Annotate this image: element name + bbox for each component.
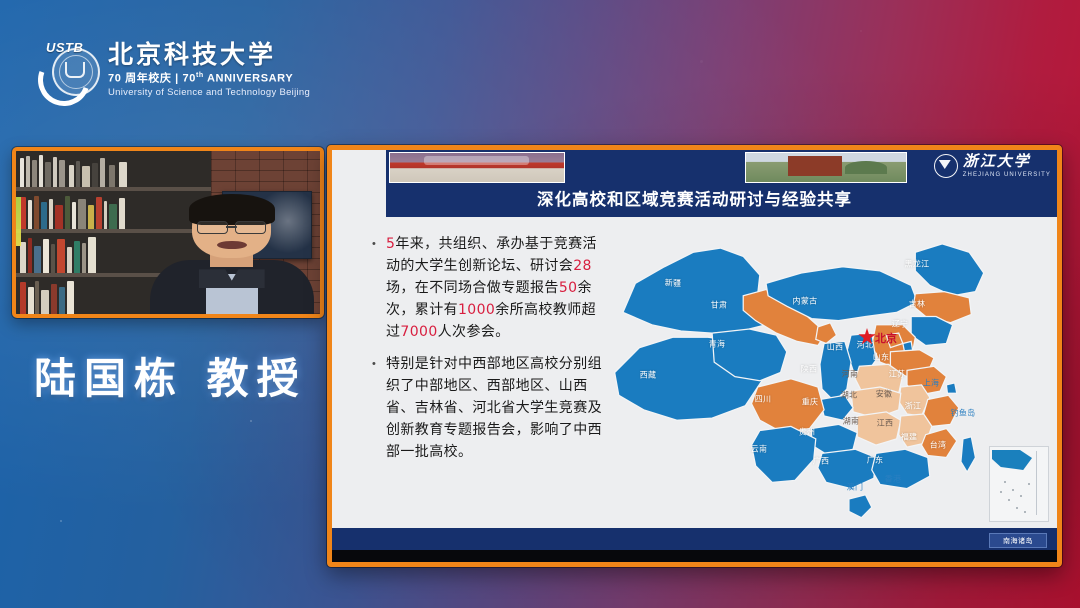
bullet-text: 5年来，共组织、承办基于竞赛活动的大学生创新论坛、研讨会28场，在不同场合做专题… — [386, 233, 607, 343]
province-label: 陕西 — [801, 364, 818, 375]
highlight-number: 1000 — [458, 302, 495, 318]
zju-seal-icon — [934, 154, 958, 178]
video-feed — [16, 151, 320, 314]
province-label: 青海 — [709, 339, 726, 350]
province-label: 澳门 — [847, 482, 864, 493]
broadcast-stage: USTB 北京科技大学 70 周年校庆 | 70th ANNIVERSARY U… — [0, 0, 1080, 608]
anniversary-sup: th — [196, 72, 204, 79]
header-white-gap — [332, 150, 386, 183]
province-label: 甘肃 — [711, 300, 728, 311]
bookshelf-row — [16, 151, 211, 187]
list-item: • 特别是针对中西部地区高校分别组织了中部地区、西部地区、山西省、吉林省、河北省… — [372, 353, 607, 463]
ustb-logo: USTB 北京科技大学 70 周年校庆 | 70th ANNIVERSARY U… — [38, 38, 328, 102]
presenter-name-title: 陆国栋 教授 — [34, 345, 307, 406]
zju-name-cn: 浙江大学 — [963, 154, 1051, 169]
province-label: 贵州 — [799, 427, 816, 438]
province-label: 云南 — [751, 444, 768, 455]
body-text: 场，在不同场合做专题报告 — [386, 280, 559, 296]
province-label: 重庆 — [802, 397, 819, 408]
highlight-number: 5 — [386, 236, 395, 252]
province-label: 湖南 — [843, 416, 860, 427]
province-label: 山东 — [873, 352, 890, 363]
province-label: 上海 — [923, 378, 940, 389]
ustb-wordmark: 北京科技大学 70 周年校庆 | 70th ANNIVERSARY Univer… — [108, 42, 310, 97]
presenter-hair — [189, 194, 274, 225]
map-svg — [587, 217, 1057, 528]
anniversary-separator: | — [175, 73, 179, 85]
slide-header-strip: 浙江大学 ZHEJIANG UNIVERSITY — [332, 150, 1057, 183]
province-hainan — [849, 495, 872, 518]
province-label: 河南 — [842, 369, 859, 380]
province-label: 广西 — [813, 456, 830, 467]
province-label: 台湾 — [930, 440, 947, 451]
body-text: 人次参会。 — [438, 324, 510, 340]
province-label: 西藏 — [640, 370, 657, 381]
decor-spark — [860, 30, 862, 32]
ustb-name-cn: 北京科技大学 — [108, 42, 310, 67]
province-label: 吉林 — [909, 299, 926, 310]
province-xinjiang — [623, 248, 770, 333]
bullet-marker: • — [372, 353, 380, 463]
slide-footer-black — [332, 550, 1057, 562]
inset-caption: 南海诸岛 — [989, 533, 1047, 548]
highlight-number: 50 — [559, 280, 578, 296]
south-china-sea-inset — [989, 446, 1049, 522]
campus-brick-building-photo — [745, 152, 907, 183]
ustb-emblem-icon: USTB — [38, 40, 100, 100]
decor-spark — [60, 520, 62, 522]
presenter-figure — [150, 197, 314, 314]
bullet-list: • 5年来，共组织、承办基于竞赛活动的大学生创新论坛、研讨会28场，在不同场合做… — [372, 233, 607, 473]
zhejiang-university-logo: 浙江大学 ZHEJIANG UNIVERSITY — [934, 152, 1051, 180]
china-province-map[interactable]: 新疆 西藏 青海 甘肃 内蒙古 黑龙江 吉林 辽宁 河北 山西 山东 陕西 河南… — [587, 217, 1057, 528]
body-text: 年来，共组织、承办基于竞赛活动的大学生创新论坛、研讨会 — [386, 236, 597, 274]
decor-spark — [250, 420, 252, 422]
province-label: 江西 — [877, 418, 894, 429]
ustb-acronym: USTB — [46, 40, 83, 55]
campus-flower-photo — [389, 152, 565, 183]
bullet-marker: • — [372, 233, 380, 343]
slide-title-bar: 深化高校和区域竞赛活动研讨与经验共享 — [332, 183, 1057, 217]
province-taiwan — [961, 437, 976, 472]
province-label: 辽宁 — [892, 319, 909, 330]
bullet-text: 特别是针对中西部地区高校分别组织了中部地区、西部地区、山西省、吉林省、河北省大学… — [386, 353, 607, 463]
anniversary-word: ANNIVERSARY — [204, 73, 294, 85]
presenter-video-panel[interactable] — [12, 147, 324, 318]
province-label: 湖北 — [841, 390, 858, 401]
ustb-anniversary: 70 周年校庆 | 70th ANNIVERSARY — [108, 72, 310, 85]
body-text: 特别是针对中西部地区高校分别组织了中部地区、西部地区、山西省、吉林省、河北省大学… — [386, 356, 602, 460]
video-edge-glow — [16, 197, 21, 246]
slide-body: • 5年来，共组织、承办基于竞赛活动的大学生创新论坛、研讨会28场，在不同场合做… — [332, 217, 1057, 528]
province-label: 安徽 — [876, 389, 893, 400]
zju-name-en: ZHEJIANG UNIVERSITY — [963, 172, 1051, 178]
zju-wordmark: 浙江大学 ZHEJIANG UNIVERSITY — [963, 154, 1051, 178]
glasses-icon — [197, 221, 266, 232]
province-label: 山西 — [827, 342, 844, 353]
slide-footer-bar — [332, 528, 1057, 562]
inset-landmass — [992, 450, 1032, 470]
province-label: 福建 — [901, 432, 918, 443]
presentation-slide[interactable]: 浙江大学 ZHEJIANG UNIVERSITY 深化高校和区域竞赛活动研讨与经… — [327, 145, 1062, 567]
list-item: • 5年来，共组织、承办基于竞赛活动的大学生创新论坛、研讨会28场，在不同场合做… — [372, 233, 607, 343]
province-shanghai — [946, 383, 956, 393]
province-label: 新疆 — [665, 278, 682, 289]
province-label: 浙江 — [905, 401, 922, 412]
slide-title: 深化高校和区域竞赛活动研讨与经验共享 — [332, 183, 1057, 217]
highlight-number: 7000 — [400, 324, 437, 340]
province-label: 香港 — [885, 474, 902, 485]
province-label: 江苏 — [889, 369, 906, 380]
province-label: 内蒙古 — [793, 296, 818, 307]
province-label: 四川 — [755, 394, 772, 405]
anniversary-cn: 70 周年校庆 — [108, 73, 172, 85]
anniversary-num: 70 — [183, 73, 196, 85]
slide-content: 浙江大学 ZHEJIANG UNIVERSITY 深化高校和区域竞赛活动研讨与经… — [332, 150, 1057, 562]
province-label: 黑龙江 — [905, 259, 930, 270]
province-label: 广东 — [867, 455, 884, 466]
province-label: 钓鱼岛 — [951, 408, 976, 419]
ustb-name-en: University of Science and Technology Bei… — [108, 88, 310, 98]
province-heilongjiang — [915, 244, 983, 296]
decor-spark — [700, 60, 703, 63]
beijing-label: 北京 — [875, 330, 897, 346]
